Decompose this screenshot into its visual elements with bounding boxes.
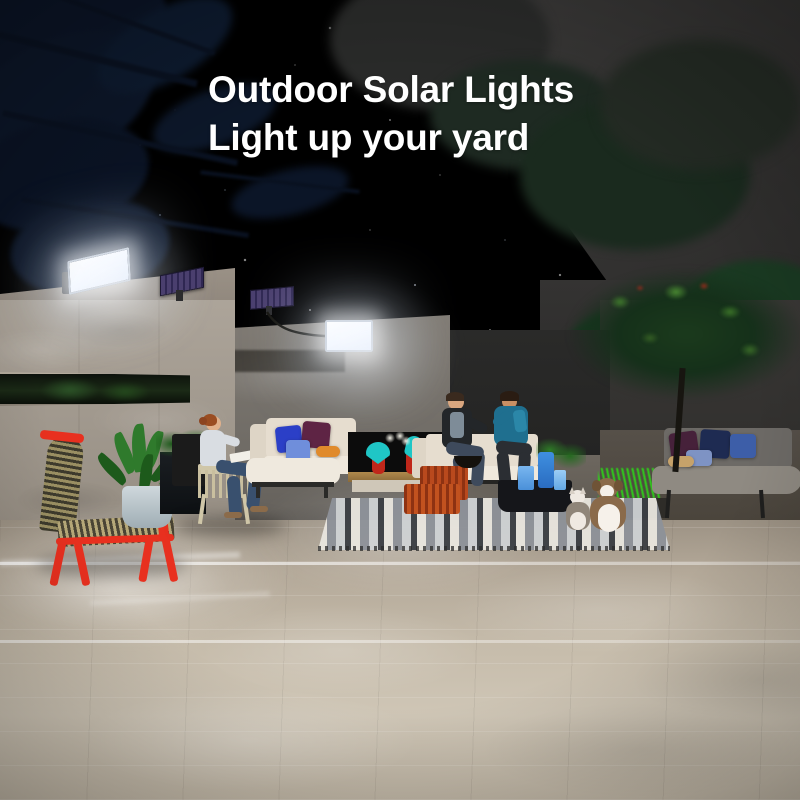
hair (446, 392, 464, 401)
ottoman-base (252, 482, 334, 487)
hair (500, 391, 519, 401)
promo-banner: Outdoor Solar Lights Light up your yard (0, 0, 800, 800)
blue-glass-vase-small (554, 470, 566, 490)
headline-line-2: Light up your yard (208, 114, 728, 162)
blue-glass-vase-short (518, 466, 534, 490)
cat-chest (570, 512, 586, 530)
cushion-orange (316, 446, 340, 457)
chaise-leg (759, 490, 765, 518)
headline-line-1: Outdoor Solar Lights (208, 69, 574, 110)
ottoman-leg (324, 486, 328, 498)
sandal (224, 512, 242, 518)
page-title: Outdoor Solar Lights Light up your yard (208, 66, 728, 162)
lower-leg (227, 476, 243, 517)
ottoman-leg (256, 486, 260, 498)
dog-ear (614, 480, 623, 491)
ottoman-top (246, 458, 340, 484)
dog (586, 478, 632, 534)
blue-glass-vase-tall (538, 452, 554, 488)
chair-leg (198, 494, 206, 524)
window-foliage (30, 378, 160, 402)
dog-ear (592, 480, 601, 491)
rug-fringe (318, 546, 670, 551)
sandal (250, 506, 268, 512)
white-flowers (384, 432, 410, 446)
wooden-side-table (404, 484, 460, 514)
solar-light-mid[interactable] (325, 320, 373, 352)
ottoman (246, 458, 340, 494)
floor-seam (0, 640, 800, 643)
solar-panel-mid[interactable] (250, 286, 294, 310)
solar-panel-left-pole (176, 290, 183, 301)
shirt (450, 412, 464, 438)
chaise-leg (665, 490, 671, 518)
cushion-blue (730, 434, 756, 458)
hair-bun (199, 417, 207, 425)
dog-chest (598, 504, 620, 532)
